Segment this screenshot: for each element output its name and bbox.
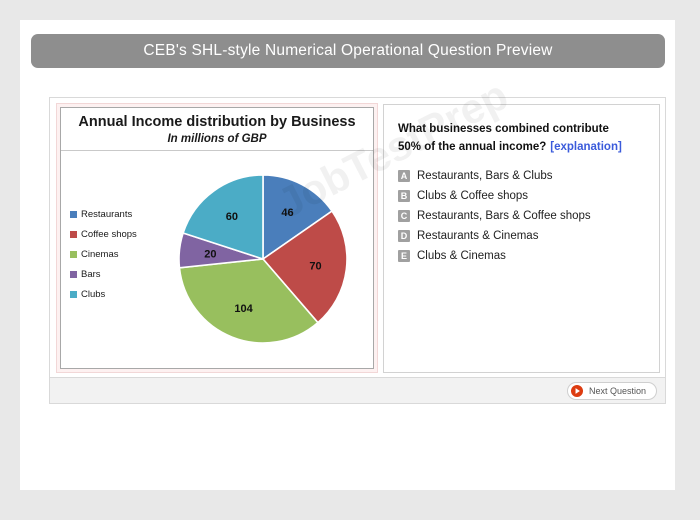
- legend-item: Coffee shops: [70, 229, 153, 240]
- answer-letter-badge: E: [398, 250, 410, 262]
- answer-option-a[interactable]: ARestaurants, Bars & Clubs: [398, 170, 649, 182]
- pie-slice-value: 70: [309, 261, 321, 273]
- chart-title: Annual Income distribution by Business: [65, 114, 369, 131]
- question-text: What businesses combined contribute 50% …: [398, 121, 649, 157]
- app-window: CEB's SHL-style Numerical Operational Qu…: [20, 20, 675, 490]
- answer-letter-badge: D: [398, 230, 410, 242]
- legend-label: Bars: [81, 269, 101, 280]
- answer-option-c[interactable]: CRestaurants, Bars & Coffee shops: [398, 210, 649, 222]
- chart-panel: Annual Income distribution by Business I…: [50, 98, 383, 378]
- answer-option-d[interactable]: DRestaurants & Cinemas: [398, 230, 649, 242]
- legend-item: Restaurants: [70, 209, 153, 220]
- answer-label: Restaurants, Bars & Clubs: [417, 170, 553, 182]
- chart-plot-area: RestaurantsCoffee shopsCinemasBarsClubs …: [61, 151, 373, 368]
- legend-label: Restaurants: [81, 209, 132, 220]
- legend-swatch-icon: [70, 251, 77, 258]
- header-bar: CEB's SHL-style Numerical Operational Qu…: [31, 34, 665, 68]
- explanation-link[interactable]: [explanation]: [550, 141, 622, 153]
- legend-swatch-icon: [70, 271, 77, 278]
- next-question-button[interactable]: Next Question: [567, 382, 657, 400]
- answer-label: Clubs & Cinemas: [417, 250, 506, 262]
- pie-slice-value: 46: [281, 207, 293, 219]
- chart-subtitle: In millions of GBP: [65, 133, 369, 145]
- chart-legend: RestaurantsCoffee shopsCinemasBarsClubs: [61, 209, 153, 309]
- answer-option-b[interactable]: BClubs & Coffee shops: [398, 190, 649, 202]
- legend-swatch-icon: [70, 231, 77, 238]
- legend-label: Clubs: [81, 289, 105, 300]
- answer-letter-badge: B: [398, 190, 410, 202]
- legend-item: Cinemas: [70, 249, 153, 260]
- pie-slice-value: 60: [226, 212, 238, 224]
- play-circle-icon: [570, 384, 584, 398]
- legend-label: Cinemas: [81, 249, 119, 260]
- answer-letter-badge: C: [398, 210, 410, 222]
- answer-option-e[interactable]: EClubs & Cinemas: [398, 250, 649, 262]
- pie-chart: 46701042060: [175, 171, 351, 347]
- question-answer-panel: What businesses combined contribute 50% …: [383, 98, 665, 378]
- chart-inner: Annual Income distribution by Business I…: [60, 107, 374, 369]
- question-line-1: What businesses combined contribute: [398, 123, 609, 135]
- panels-row: Annual Income distribution by Business I…: [50, 98, 665, 378]
- answer-label: Restaurants & Cinemas: [417, 230, 538, 242]
- pie-slice-value: 20: [204, 249, 216, 261]
- legend-swatch-icon: [70, 291, 77, 298]
- answer-options-list: ARestaurants, Bars & ClubsBClubs & Coffe…: [398, 170, 649, 262]
- question-inner: What businesses combined contribute 50% …: [383, 104, 660, 373]
- next-question-label: Next Question: [589, 386, 646, 396]
- legend-item: Bars: [70, 269, 153, 280]
- page-title: CEB's SHL-style Numerical Operational Qu…: [143, 42, 552, 60]
- footer-bar: Next Question: [50, 377, 665, 403]
- answer-label: Restaurants, Bars & Coffee shops: [417, 210, 591, 222]
- legend-item: Clubs: [70, 289, 153, 300]
- chart-title-block: Annual Income distribution by Business I…: [61, 108, 373, 151]
- chart-frame: Annual Income distribution by Business I…: [56, 103, 378, 373]
- legend-swatch-icon: [70, 211, 77, 218]
- answer-label: Clubs & Coffee shops: [417, 190, 528, 202]
- question-line-2: 50% of the annual income?: [398, 141, 546, 153]
- answer-letter-badge: A: [398, 170, 410, 182]
- question-container: Annual Income distribution by Business I…: [49, 97, 666, 404]
- pie-chart-wrap: 46701042060: [153, 171, 373, 347]
- pie-slice-value: 104: [234, 304, 253, 316]
- legend-label: Coffee shops: [81, 229, 137, 240]
